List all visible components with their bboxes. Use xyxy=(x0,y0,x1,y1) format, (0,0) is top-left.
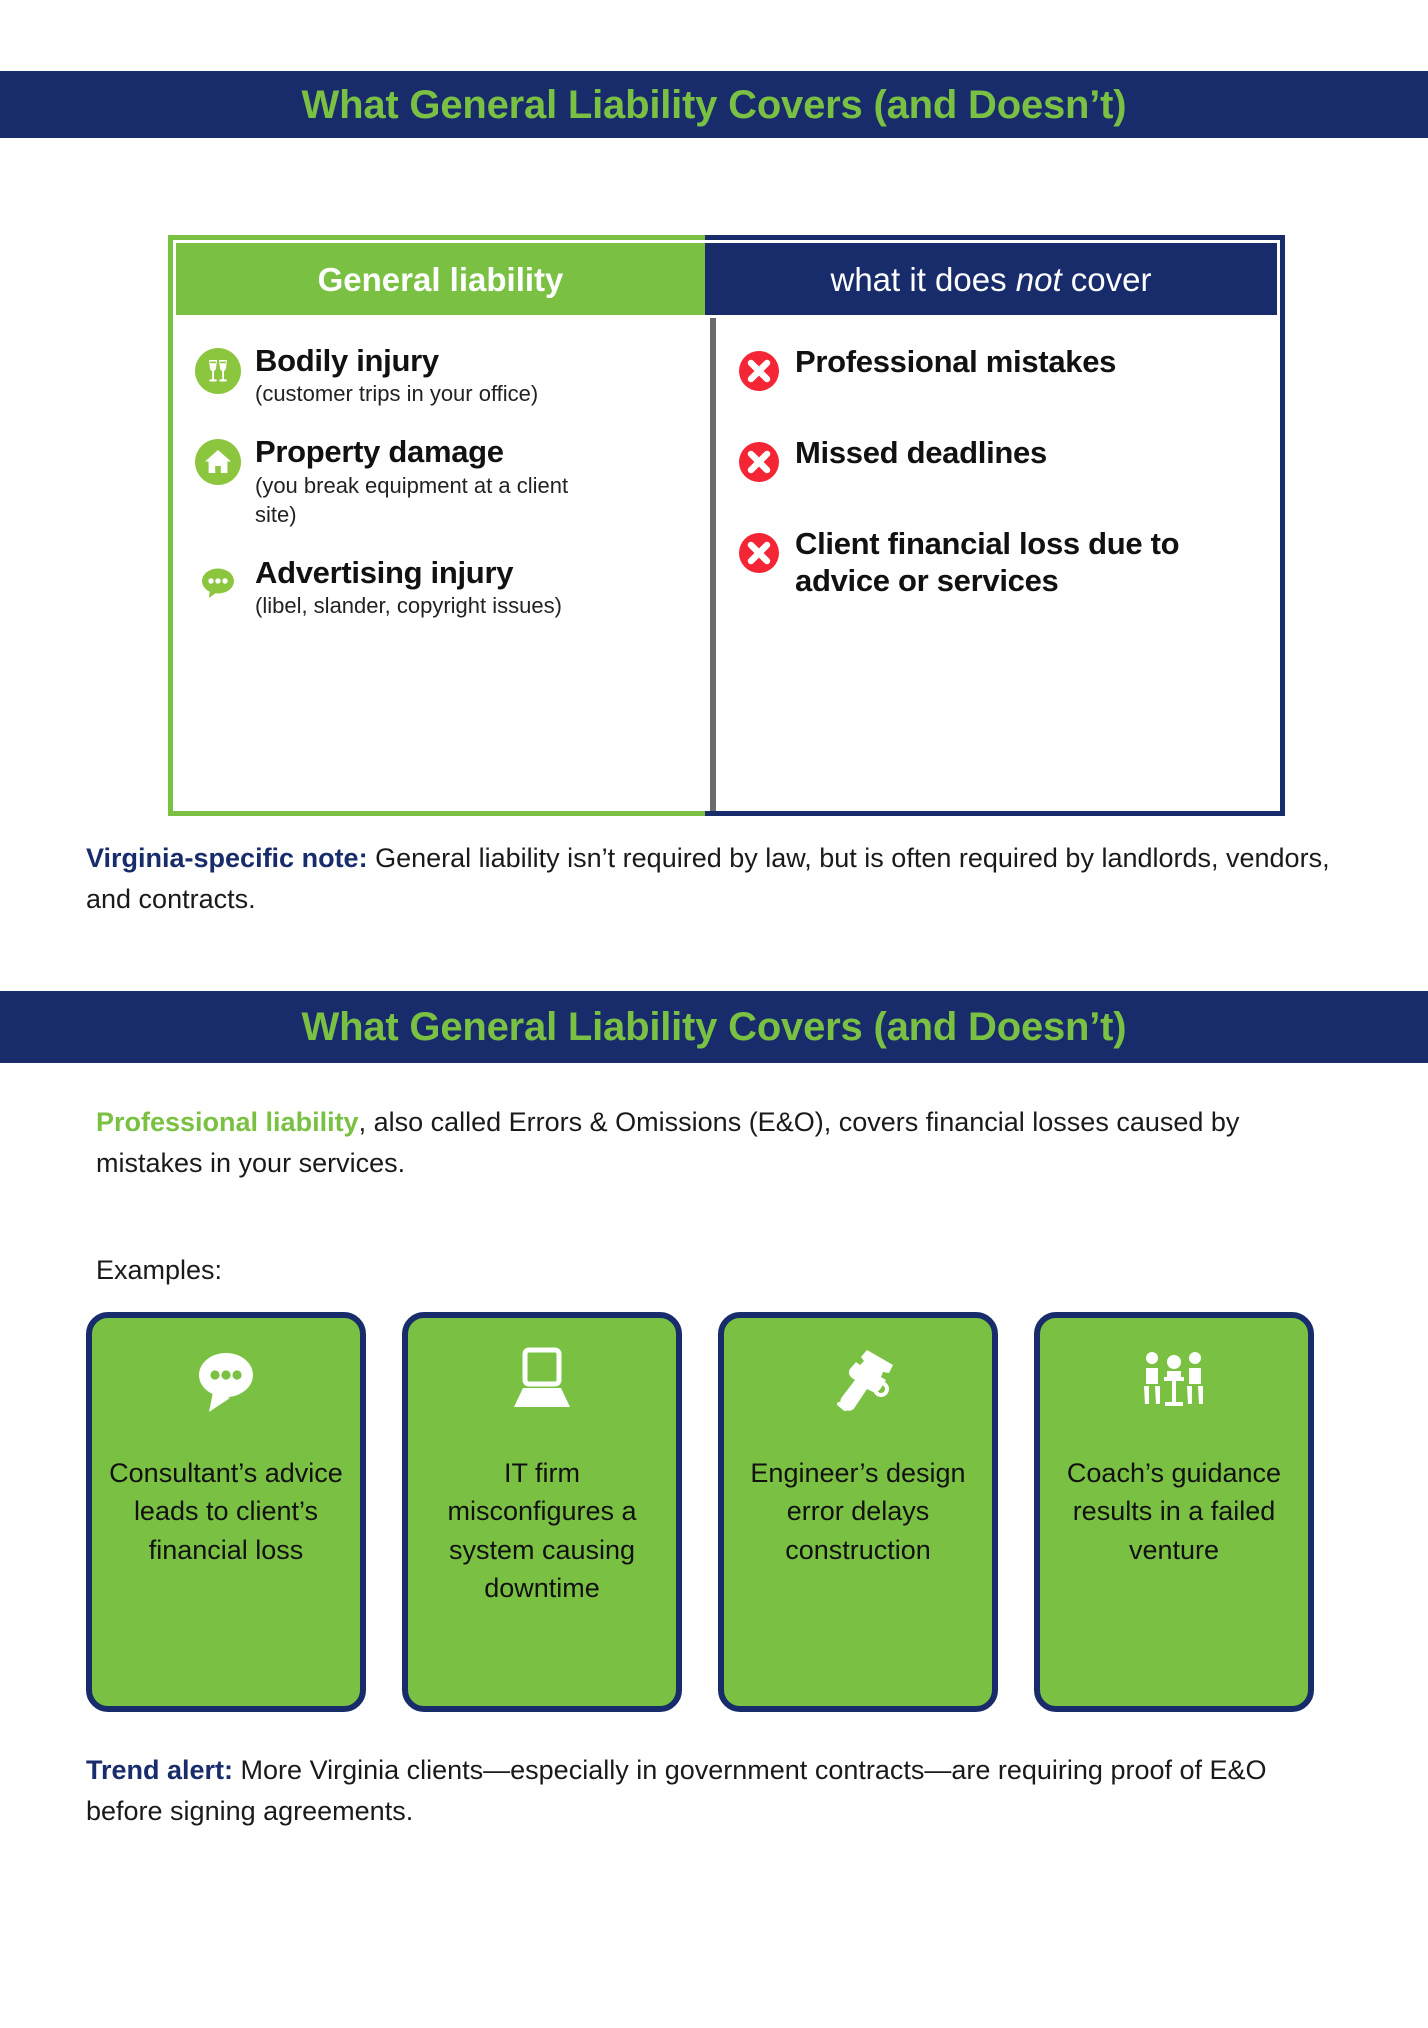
section-two-title-bar: What General Liability Covers (and Doesn… xyxy=(0,991,1428,1063)
drinks-glasses-icon xyxy=(195,348,241,394)
not-covered-column-header: what it does not cover xyxy=(705,240,1280,318)
column-divider xyxy=(710,318,716,811)
covered-column: General liability xyxy=(168,235,705,816)
x-circle-icon xyxy=(735,529,783,577)
covered-item-text: Property damage (you break equipment at … xyxy=(255,435,615,530)
section-two-title: What General Liability Covers (and Doesn… xyxy=(302,1007,1127,1047)
covered-item-detail: (you break equipment at a client site) xyxy=(255,471,615,530)
trend-note-lead: Trend alert: xyxy=(86,1755,233,1785)
trend-note-body: More Virginia clients—especially in gove… xyxy=(86,1755,1267,1826)
example-card-text: Coach’s guidance results in a failed ven… xyxy=(1054,1454,1294,1569)
speech-bubble-icon xyxy=(183,1344,269,1418)
trend-alert-note: Trend alert: More Virginia clients—espec… xyxy=(86,1750,1336,1831)
example-card[interactable]: IT firm misconfigures a system causing d… xyxy=(402,1312,682,1712)
example-card-text: Consultant’s advice leads to client’s fi… xyxy=(106,1454,346,1569)
virginia-specific-note: Virginia-specific note: General liabilit… xyxy=(86,838,1356,919)
covered-item: Advertising injury (libel, slander, copy… xyxy=(195,556,705,621)
intro-lead: Professional liability xyxy=(96,1107,359,1137)
section-one-title: What General Liability Covers (and Doesn… xyxy=(302,85,1127,125)
not-covered-item: Missed deadlines xyxy=(735,435,1280,486)
laptop-icon xyxy=(499,1344,585,1418)
x-circle-icon xyxy=(735,347,783,395)
covered-list: Bodily injury (customer trips in your of… xyxy=(173,318,705,811)
not-covered-column: what it does not cover Professional mist… xyxy=(705,235,1285,816)
coverage-comparison-table: General liability xyxy=(168,235,1285,816)
example-cards-row: Consultant’s advice leads to client’s fi… xyxy=(86,1312,1342,1712)
people-meeting-icon xyxy=(1131,1344,1217,1418)
not-covered-column-header-label: what it does not cover xyxy=(830,263,1151,296)
example-card-text: Engineer’s design error delays construct… xyxy=(738,1454,978,1569)
not-covered-item: Client financial loss due to advice or s… xyxy=(735,526,1280,599)
covered-column-header-label: General liability xyxy=(318,263,564,296)
professional-liability-intro: Professional liability, also called Erro… xyxy=(96,1102,1346,1183)
speech-bubble-icon xyxy=(195,560,241,606)
covered-item-title: Property damage xyxy=(255,435,615,468)
example-card-text: IT firm misconfigures a system causing d… xyxy=(422,1454,662,1607)
covered-item-text: Advertising injury (libel, slander, copy… xyxy=(255,556,562,621)
not-covered-list: Professional mistakes Missed deadlines xyxy=(705,318,1280,811)
covered-item: Property damage (you break equipment at … xyxy=(195,435,705,530)
example-card[interactable]: Engineer’s design error delays construct… xyxy=(718,1312,998,1712)
example-card[interactable]: Coach’s guidance results in a failed ven… xyxy=(1034,1312,1314,1712)
example-card[interactable]: Consultant’s advice leads to client’s fi… xyxy=(86,1312,366,1712)
covered-item: Bodily injury (customer trips in your of… xyxy=(195,344,705,409)
tools-wrench-icon xyxy=(815,1344,901,1418)
covered-column-header: General liability xyxy=(173,240,705,318)
not-covered-item: Professional mistakes xyxy=(735,344,1280,395)
covered-item-detail: (libel, slander, copyright issues) xyxy=(255,591,562,621)
not-covered-header-emphasis: not xyxy=(1016,261,1062,298)
not-covered-header-post: cover xyxy=(1062,261,1152,298)
x-circle-icon xyxy=(735,438,783,486)
not-covered-item-title: Professional mistakes xyxy=(795,344,1116,381)
covered-item-title: Advertising injury xyxy=(255,556,562,589)
not-covered-item-title: Missed deadlines xyxy=(795,435,1047,472)
covered-item-detail: (customer trips in your office) xyxy=(255,379,538,409)
section-one-title-bar: What General Liability Covers (and Doesn… xyxy=(0,71,1428,138)
examples-label: Examples: xyxy=(96,1255,222,1286)
covered-item-title: Bodily injury xyxy=(255,344,538,377)
not-covered-header-pre: what it does xyxy=(830,261,1015,298)
home-icon xyxy=(195,439,241,485)
covered-item-text: Bodily injury (customer trips in your of… xyxy=(255,344,538,409)
virginia-note-lead: Virginia-specific note: xyxy=(86,843,368,873)
not-covered-item-title: Client financial loss due to advice or s… xyxy=(795,526,1255,599)
